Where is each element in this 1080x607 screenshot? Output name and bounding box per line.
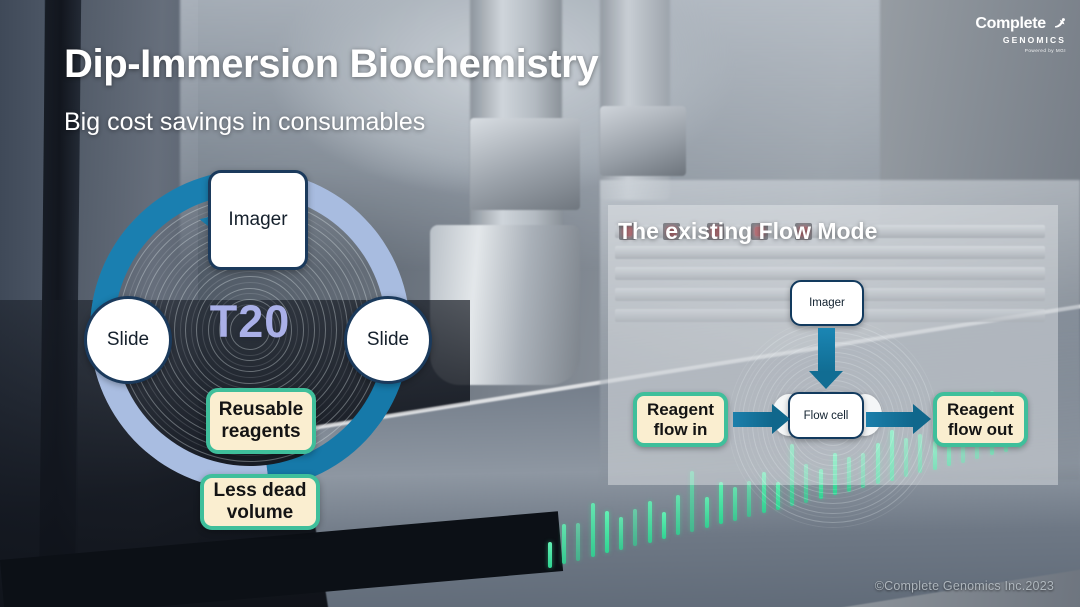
slide-root: Dip-Immersion Biochemistry Big cost savi… bbox=[0, 0, 1080, 607]
logo-tagline: Powered by MGI bbox=[975, 47, 1066, 54]
cycle-node-imager[interactable]: Imager bbox=[208, 170, 308, 270]
cycle-node-slide-right[interactable]: Slide bbox=[344, 296, 432, 384]
logo-wordmark: Complete bbox=[975, 15, 1046, 32]
flow-arrow-imager-to-cell bbox=[818, 328, 835, 372]
background-print-head-2 bbox=[600, 106, 686, 176]
flow-panel-heading: The existing Flow Mode bbox=[618, 218, 877, 245]
flow-node-reagent-out[interactable]: Reagent flow out bbox=[933, 392, 1028, 447]
cycle-benefit-less-dead-volume[interactable]: Less dead volume bbox=[200, 474, 320, 530]
copyright-text: ©Complete Genomics Inc.2023 bbox=[875, 579, 1054, 593]
logo-dna-mark-icon bbox=[1053, 17, 1066, 34]
flow-arrow-in-to-cell bbox=[733, 412, 773, 427]
logo-name-row: Complete bbox=[975, 16, 1066, 34]
flow-arrow-cell-to-out bbox=[866, 412, 914, 427]
logo-subtitle: GENOMICS bbox=[975, 34, 1066, 47]
cycle-benefit-reusable-reagents[interactable]: Reusable reagents bbox=[206, 388, 316, 454]
flow-node-reagent-in[interactable]: Reagent flow in bbox=[633, 392, 728, 447]
cycle-node-slide-left[interactable]: Slide bbox=[84, 296, 172, 384]
flow-node-imager[interactable]: Imager bbox=[790, 280, 864, 326]
page-title: Dip-Immersion Biochemistry bbox=[64, 42, 598, 87]
page-subtitle: Big cost savings in consumables bbox=[64, 108, 425, 137]
brand-logo: Complete GENOMICS Powered by MGI bbox=[975, 16, 1066, 54]
background-print-head bbox=[470, 118, 580, 210]
flow-node-flow-cell[interactable]: Flow cell bbox=[788, 392, 864, 439]
